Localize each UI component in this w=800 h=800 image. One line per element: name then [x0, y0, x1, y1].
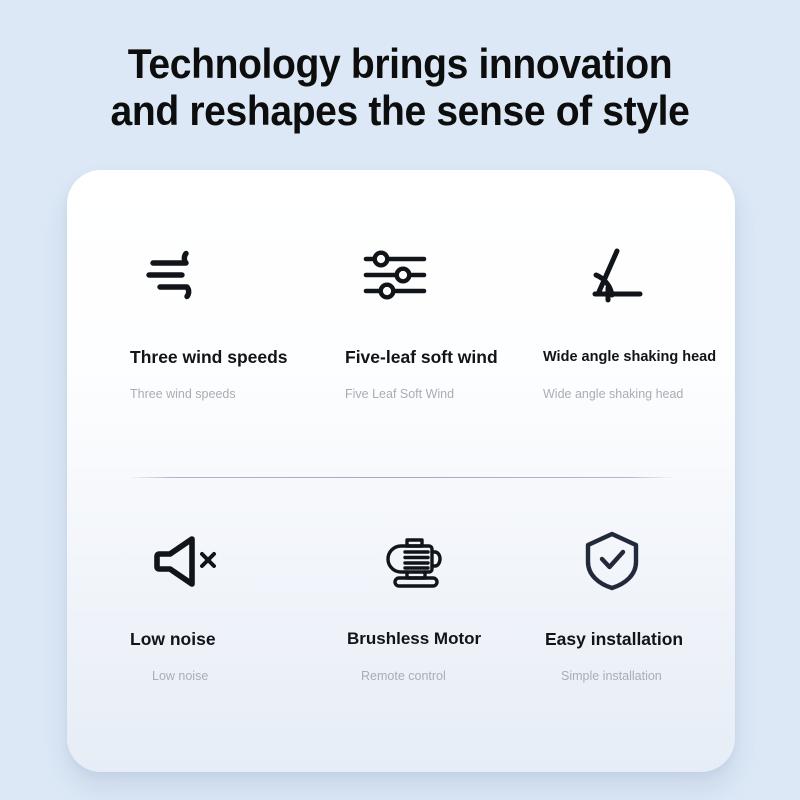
feature-subtitle: Remote control [345, 667, 560, 685]
feature-item-brushless-motor[interactable]: Brushless Motor Remote control [345, 518, 560, 685]
feature-title: Wide angle shaking head [543, 346, 735, 368]
feature-item-five-leaf-soft-wind[interactable]: Five-leaf soft wind Five Leaf Soft Wind [345, 232, 560, 403]
page-title-line-1: Technology brings innovation [28, 40, 772, 87]
feature-title: Brushless Motor [345, 628, 560, 650]
feature-item-wide-angle-shaking-head[interactable]: Wide angle shaking head Wide angle shaki… [543, 232, 735, 403]
feature-title: Three wind speeds [130, 346, 345, 368]
feature-title: Five-leaf soft wind [345, 346, 560, 368]
feature-item-low-noise[interactable]: Low noise Low noise [130, 518, 345, 685]
feature-icon-wrap [543, 232, 735, 318]
feature-icon-wrap [130, 232, 345, 318]
feature-subtitle: Simple installation [543, 667, 735, 685]
promo-feature-page: Technology brings innovation and reshape… [0, 0, 800, 800]
feature-title: Low noise [130, 628, 345, 650]
sliders-icon [363, 250, 427, 300]
feature-grid: Three wind speeds Three wind speeds [67, 170, 735, 772]
page-title-line-2: and reshapes the sense of style [28, 87, 772, 134]
feature-card: Three wind speeds Three wind speeds [67, 170, 735, 772]
feature-subtitle: Low noise [130, 667, 345, 685]
shield-check-icon [583, 530, 641, 592]
section-divider [130, 477, 672, 478]
feature-subtitle: Five Leaf Soft Wind [345, 385, 560, 403]
electric-motor-icon [383, 530, 449, 592]
wind-lines-icon [146, 252, 208, 298]
speaker-mute-icon [152, 534, 218, 588]
feature-subtitle: Three wind speeds [130, 385, 345, 403]
feature-icon-wrap [543, 518, 735, 604]
page-title: Technology brings innovation and reshape… [28, 40, 772, 134]
feature-icon-wrap [130, 518, 345, 604]
angle-icon [585, 248, 643, 302]
feature-subtitle: Wide angle shaking head [543, 385, 735, 403]
feature-icon-wrap [345, 518, 560, 604]
feature-item-easy-installation[interactable]: Easy installation Simple installation [543, 518, 735, 685]
feature-icon-wrap [345, 232, 560, 318]
feature-item-three-wind-speeds[interactable]: Three wind speeds Three wind speeds [130, 232, 345, 403]
feature-title: Easy installation [543, 628, 735, 650]
